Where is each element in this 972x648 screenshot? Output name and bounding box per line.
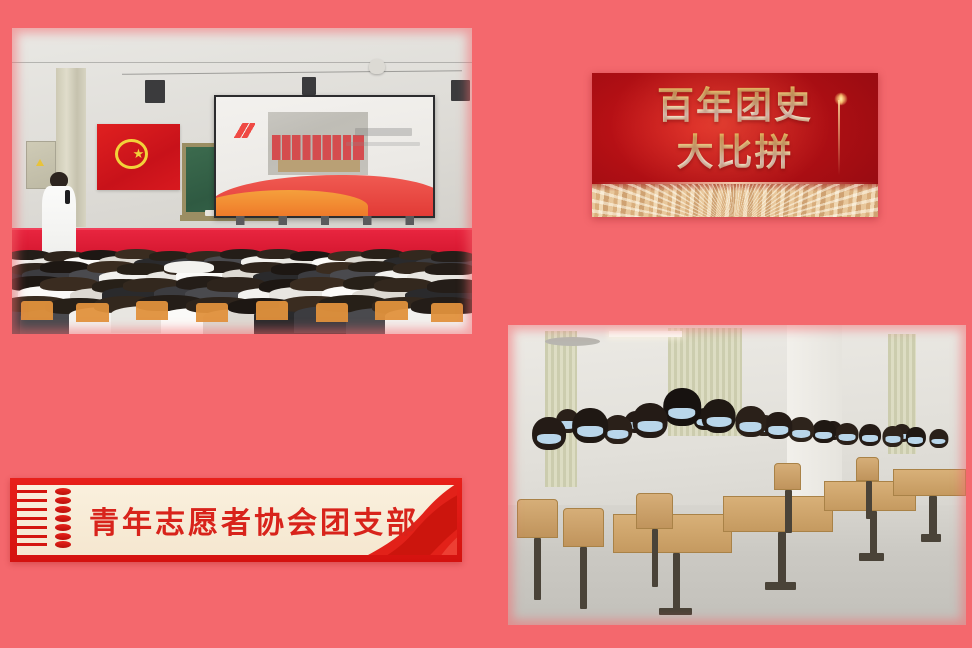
face-mask-icon <box>792 430 810 438</box>
classroom-chair <box>563 508 604 547</box>
binding-row <box>17 516 79 520</box>
classroom-desk <box>723 496 833 532</box>
photo-volunteers-standing <box>508 325 966 625</box>
volunteer-head <box>764 412 791 439</box>
ceiling-line <box>12 62 472 64</box>
face-mask-icon <box>768 426 788 434</box>
binding-bar <box>17 508 47 511</box>
projection-screen <box>216 97 433 215</box>
volunteer-head <box>532 417 566 451</box>
binding-cap <box>55 541 71 548</box>
wall-speaker-icon <box>451 80 469 101</box>
desk-foot <box>765 582 796 590</box>
volunteer-head <box>835 423 858 446</box>
classroom-chair <box>774 463 801 490</box>
volunteer-head <box>812 420 836 444</box>
wall-speaker-icon <box>302 77 316 95</box>
binding-bar <box>17 543 47 546</box>
face-mask-icon <box>885 436 900 442</box>
face-mask-icon <box>578 426 604 437</box>
desk-leg <box>673 553 680 612</box>
audience-person-head <box>425 263 472 275</box>
chair-leg <box>652 529 658 587</box>
audience-person-head <box>431 251 472 261</box>
face-mask-icon <box>932 439 946 445</box>
auditorium-chair <box>375 301 407 320</box>
binding-bar <box>17 490 47 493</box>
auditorium-chair <box>256 301 288 320</box>
binding-bar <box>17 499 47 502</box>
classroom-chair <box>856 457 879 481</box>
screen-mount-brackets <box>219 216 431 225</box>
poster-canvas: 百年团史 大比拼 青年志愿者协会团支部 <box>0 0 972 648</box>
volunteer-head <box>573 408 609 444</box>
face-mask-icon <box>862 435 878 442</box>
audience-group <box>12 248 472 334</box>
slide-photo-desk <box>278 160 360 172</box>
ceiling-fan-icon <box>545 337 600 346</box>
title-line-1: 百年团史 <box>592 85 878 126</box>
dome-light-icon <box>369 59 386 74</box>
volunteer-head <box>859 424 881 446</box>
face-mask-icon <box>607 430 628 439</box>
desk-foot <box>859 553 885 561</box>
binding-row <box>17 543 79 547</box>
auditorium-chair <box>76 303 108 322</box>
face-mask-icon <box>839 434 855 441</box>
face-mask-icon <box>908 437 923 443</box>
auditorium-chair <box>431 303 463 322</box>
slide-title-text <box>355 128 411 136</box>
volunteer-head <box>633 403 668 438</box>
title-banner-text: 百年团史 大比拼 <box>592 85 878 174</box>
desk-foot <box>921 534 942 542</box>
auditorium-chair <box>316 303 348 322</box>
desk-leg <box>778 532 785 586</box>
title-line-2: 大比拼 <box>592 132 878 173</box>
auditorium-chair <box>136 301 168 320</box>
wall-speaker-icon <box>145 80 164 103</box>
ceiling-light-icon <box>609 331 682 337</box>
binding-bar <box>17 526 47 529</box>
wood-floor-streaks <box>592 184 878 217</box>
desk-foot <box>659 608 692 616</box>
volunteer-head <box>882 426 903 447</box>
classroom-desk <box>893 469 966 496</box>
desk-leg <box>929 496 936 537</box>
binding-cap <box>55 524 71 531</box>
name-banner-paper: 青年志愿者协会团支部 <box>17 485 457 555</box>
face-mask-icon <box>637 421 662 431</box>
photo-lecture-hall <box>12 28 472 334</box>
volunteer-head <box>663 388 701 426</box>
organization-name-label: 青年志愿者协会团支部 <box>89 498 419 542</box>
binding-bar <box>17 535 47 538</box>
auditorium-chair <box>196 303 228 322</box>
classroom-desk <box>613 514 732 553</box>
binding-cap <box>55 497 71 504</box>
binding-row <box>17 525 79 529</box>
binding-row <box>17 499 79 503</box>
binding-cap <box>55 515 71 522</box>
face-mask-icon <box>740 422 762 431</box>
volunteer-head <box>906 427 926 447</box>
face-mask-icon <box>815 432 832 439</box>
chair-leg <box>534 538 540 600</box>
binding-bar <box>17 517 47 520</box>
volunteer-head <box>701 399 736 434</box>
classroom-chair <box>517 499 558 538</box>
binding-cap <box>55 488 71 495</box>
binding-row <box>17 534 79 538</box>
volunteer-head <box>929 429 948 448</box>
binding-row <box>17 508 79 512</box>
binding-cap <box>55 506 71 513</box>
volunteer-head <box>788 417 814 443</box>
face-mask-icon <box>706 417 731 427</box>
name-banner: 青年志愿者协会团支部 <box>10 478 462 562</box>
title-banner: 百年团史 大比拼 <box>592 73 878 217</box>
slide-flag-graphic <box>225 123 255 137</box>
slide-subtitle-text <box>346 142 420 146</box>
youth-league-flag <box>97 124 180 190</box>
chair-leg <box>580 547 586 609</box>
slide-photo-people <box>272 135 364 161</box>
microphone-icon <box>65 190 70 204</box>
volunteer-head <box>735 406 766 437</box>
auditorium-chair <box>21 301 53 320</box>
audience-white-cap <box>164 261 215 273</box>
binding-cap <box>55 533 71 540</box>
audience-person-head <box>427 279 472 293</box>
face-mask-icon <box>668 408 695 419</box>
chair-leg <box>866 481 872 519</box>
binding-row <box>17 490 79 494</box>
classroom-chair <box>636 493 673 529</box>
face-mask-icon <box>537 434 561 444</box>
chair-leg <box>785 490 791 533</box>
projection-screen-frame <box>214 95 435 217</box>
notebook-binding-decor <box>17 485 79 555</box>
